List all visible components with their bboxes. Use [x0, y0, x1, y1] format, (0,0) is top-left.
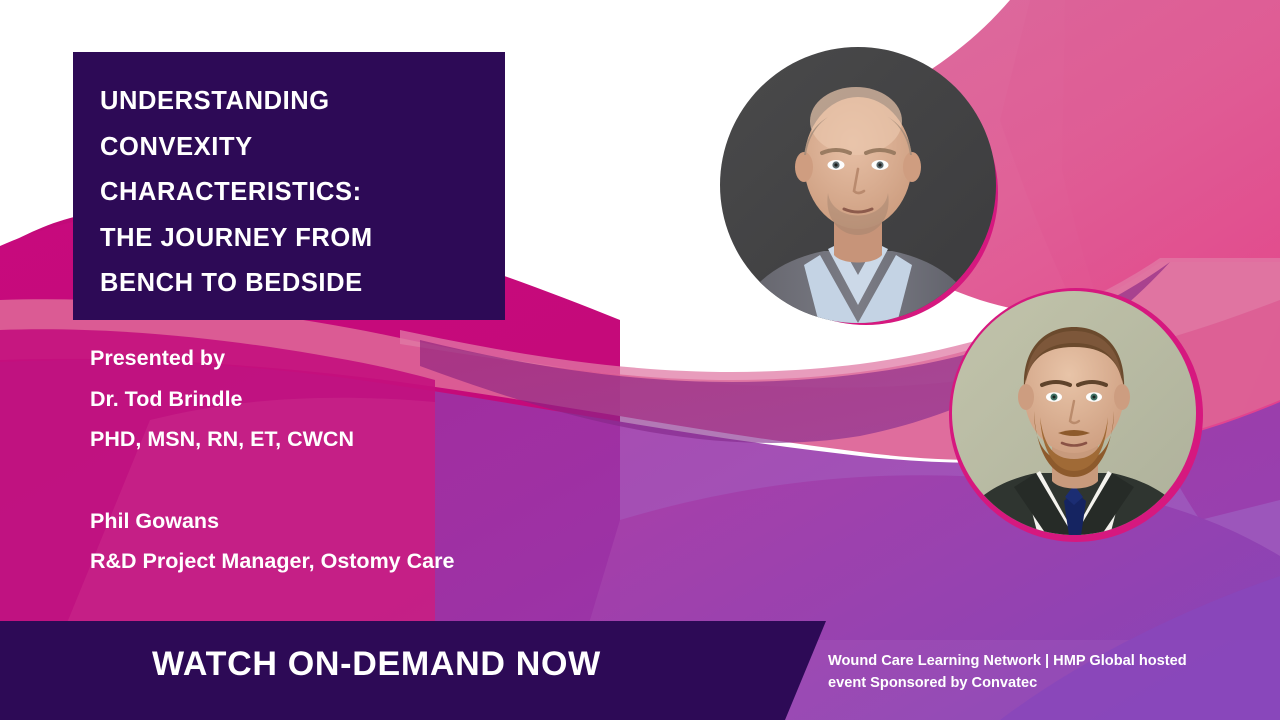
presented-by-label: Presented by — [90, 338, 454, 379]
phil-gowans-portrait — [948, 285, 1206, 543]
title-line-2: CONVEXITY — [100, 125, 475, 171]
speaker-1-credentials: PHD, MSN, RN, ET, CWCN — [90, 419, 454, 460]
watch-on-demand-button[interactable]: WATCH ON-DEMAND NOW — [152, 645, 601, 684]
speaker-2-title: R&D Project Manager, Ostomy Care — [90, 541, 454, 582]
title-line-3: CHARACTERISTICS: — [100, 170, 475, 216]
promo-banner: UNDERSTANDING CONVEXITY CHARACTERISTICS:… — [0, 0, 1280, 720]
sponsor-line-1: Wound Care Learning Network | HMP Global… — [828, 650, 1248, 672]
title-line-1: UNDERSTANDING — [100, 79, 475, 125]
title-line-5: BENCH TO BEDSIDE — [100, 261, 475, 307]
title-line-4: THE JOURNEY FROM — [100, 216, 475, 262]
presenter-spacer — [90, 460, 454, 501]
speaker-1-name: Dr. Tod Brindle — [90, 379, 454, 420]
title-card: UNDERSTANDING CONVEXITY CHARACTERISTICS:… — [73, 52, 505, 320]
presenters-block: Presented by Dr. Tod Brindle PHD, MSN, R… — [90, 338, 454, 582]
sponsor-line-2: event Sponsored by Convatec — [828, 672, 1248, 694]
sponsor-credit: Wound Care Learning Network | HMP Global… — [828, 650, 1248, 694]
speaker-2-name: Phil Gowans — [90, 501, 454, 542]
